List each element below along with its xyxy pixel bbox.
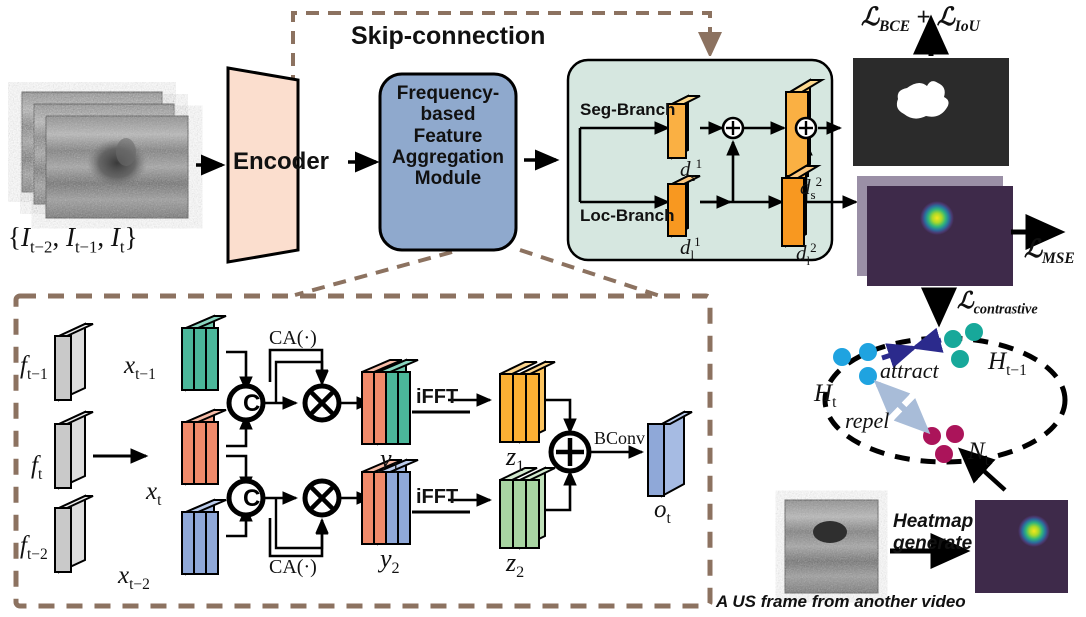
- feature-block-ft2: [55, 496, 93, 572]
- label-xt: xt: [146, 478, 161, 510]
- ffam-label: Frequency- based Feature Aggregation Mod…: [386, 83, 510, 189]
- encoder-label: Encoder: [233, 148, 329, 176]
- figure-canvas: Skip-connection {It−2, It−1, It} Encoder…: [0, 0, 1086, 617]
- segmentation-mask: [853, 58, 1009, 166]
- contrastive-dots-Ht1: [944, 323, 983, 368]
- contrastive-loss-label: ℒcontrastive: [957, 288, 1038, 319]
- concat-symbol-top: C: [243, 390, 260, 418]
- label-Nt: Nt: [968, 438, 989, 470]
- merged-block-y1: [362, 360, 418, 444]
- heatmap-generate-label: Heatmap generate: [893, 511, 973, 555]
- feature-block-ft1: [55, 324, 93, 400]
- ca-label-top: CA(·): [269, 327, 317, 350]
- heatmap-generate-line-0: Heatmap: [893, 511, 973, 532]
- ffam-line-2: Feature: [414, 126, 483, 147]
- ffam-line-3: Aggregation: [392, 147, 504, 168]
- ifft-block-z1: [500, 362, 555, 442]
- label-y2: y2: [380, 544, 400, 578]
- other-video-caption: A US frame from another video: [716, 592, 966, 612]
- label-ft1: ft−1: [20, 352, 48, 384]
- bce-iou-loss-label: ℒBCE + ℒIoU: [861, 2, 980, 36]
- loc-branch-label: Loc-Branch: [580, 206, 674, 226]
- ifft-label-top: iFFT: [416, 386, 458, 409]
- ffam-line-0: Frequency-: [397, 83, 499, 104]
- ca-label-bottom: CA(·): [269, 556, 317, 579]
- multiply-op-1: [305, 386, 339, 420]
- ifft-block-z2: [500, 468, 555, 548]
- predicted-heatmap: [857, 176, 1013, 286]
- label-Ht: Ht: [814, 380, 836, 412]
- attract-label: attract: [880, 358, 939, 384]
- decoder-sum-1: [723, 118, 743, 138]
- label-dl2: dl2: [796, 240, 817, 269]
- output-block-ot: [648, 412, 692, 496]
- generated-heatmap: [975, 500, 1068, 593]
- mse-loss-label: ℒMSE: [1024, 234, 1075, 268]
- label-ds2: ds2: [800, 174, 822, 203]
- input-frame-stack: [22, 92, 188, 218]
- ffam-line-4: Module: [415, 168, 482, 189]
- seg-branch-label: Seg-Branch: [580, 100, 675, 120]
- repel-label: repel: [845, 408, 889, 434]
- label-ft2: ft−2: [20, 532, 48, 564]
- label-z1: z1: [506, 442, 524, 476]
- contrastive-dots-Ht: [833, 343, 877, 385]
- label-Ht-1: Ht−1: [988, 348, 1027, 380]
- ffam-sum-op: [551, 433, 589, 471]
- label-ot: ot: [654, 496, 671, 528]
- fft-block-xt: [182, 410, 226, 484]
- attract-arrows: [882, 340, 941, 358]
- bconv-label: BConv: [594, 428, 645, 449]
- heatmap-generate-line-1: generate: [893, 533, 972, 554]
- other-video-frame: [785, 500, 878, 593]
- fft-block-xt2: [182, 500, 226, 574]
- contrastive-dots-Nt: [923, 425, 964, 463]
- input-stack-label: {It−2, It−1, It}: [8, 222, 138, 257]
- feature-block-ft: [55, 412, 93, 488]
- skip-connection-label: Skip-connection: [351, 22, 545, 51]
- multiply-op-2: [305, 481, 339, 515]
- fft-block-xt1: [182, 316, 226, 390]
- ifft-label-bottom: iFFT: [416, 486, 458, 509]
- label-dl1: dl1: [680, 234, 701, 263]
- label-ft: ft: [31, 452, 42, 484]
- label-z2: z2: [506, 548, 524, 582]
- label-y1: y1: [380, 444, 400, 478]
- label-ds1: ds1: [680, 156, 702, 185]
- concat-symbol-bottom: C: [243, 485, 260, 513]
- ffam-line-1: based: [421, 104, 476, 125]
- label-xt1: xt−1: [124, 352, 156, 384]
- label-xt2: xt−2: [118, 562, 150, 594]
- decoder-sum-2: [796, 118, 816, 138]
